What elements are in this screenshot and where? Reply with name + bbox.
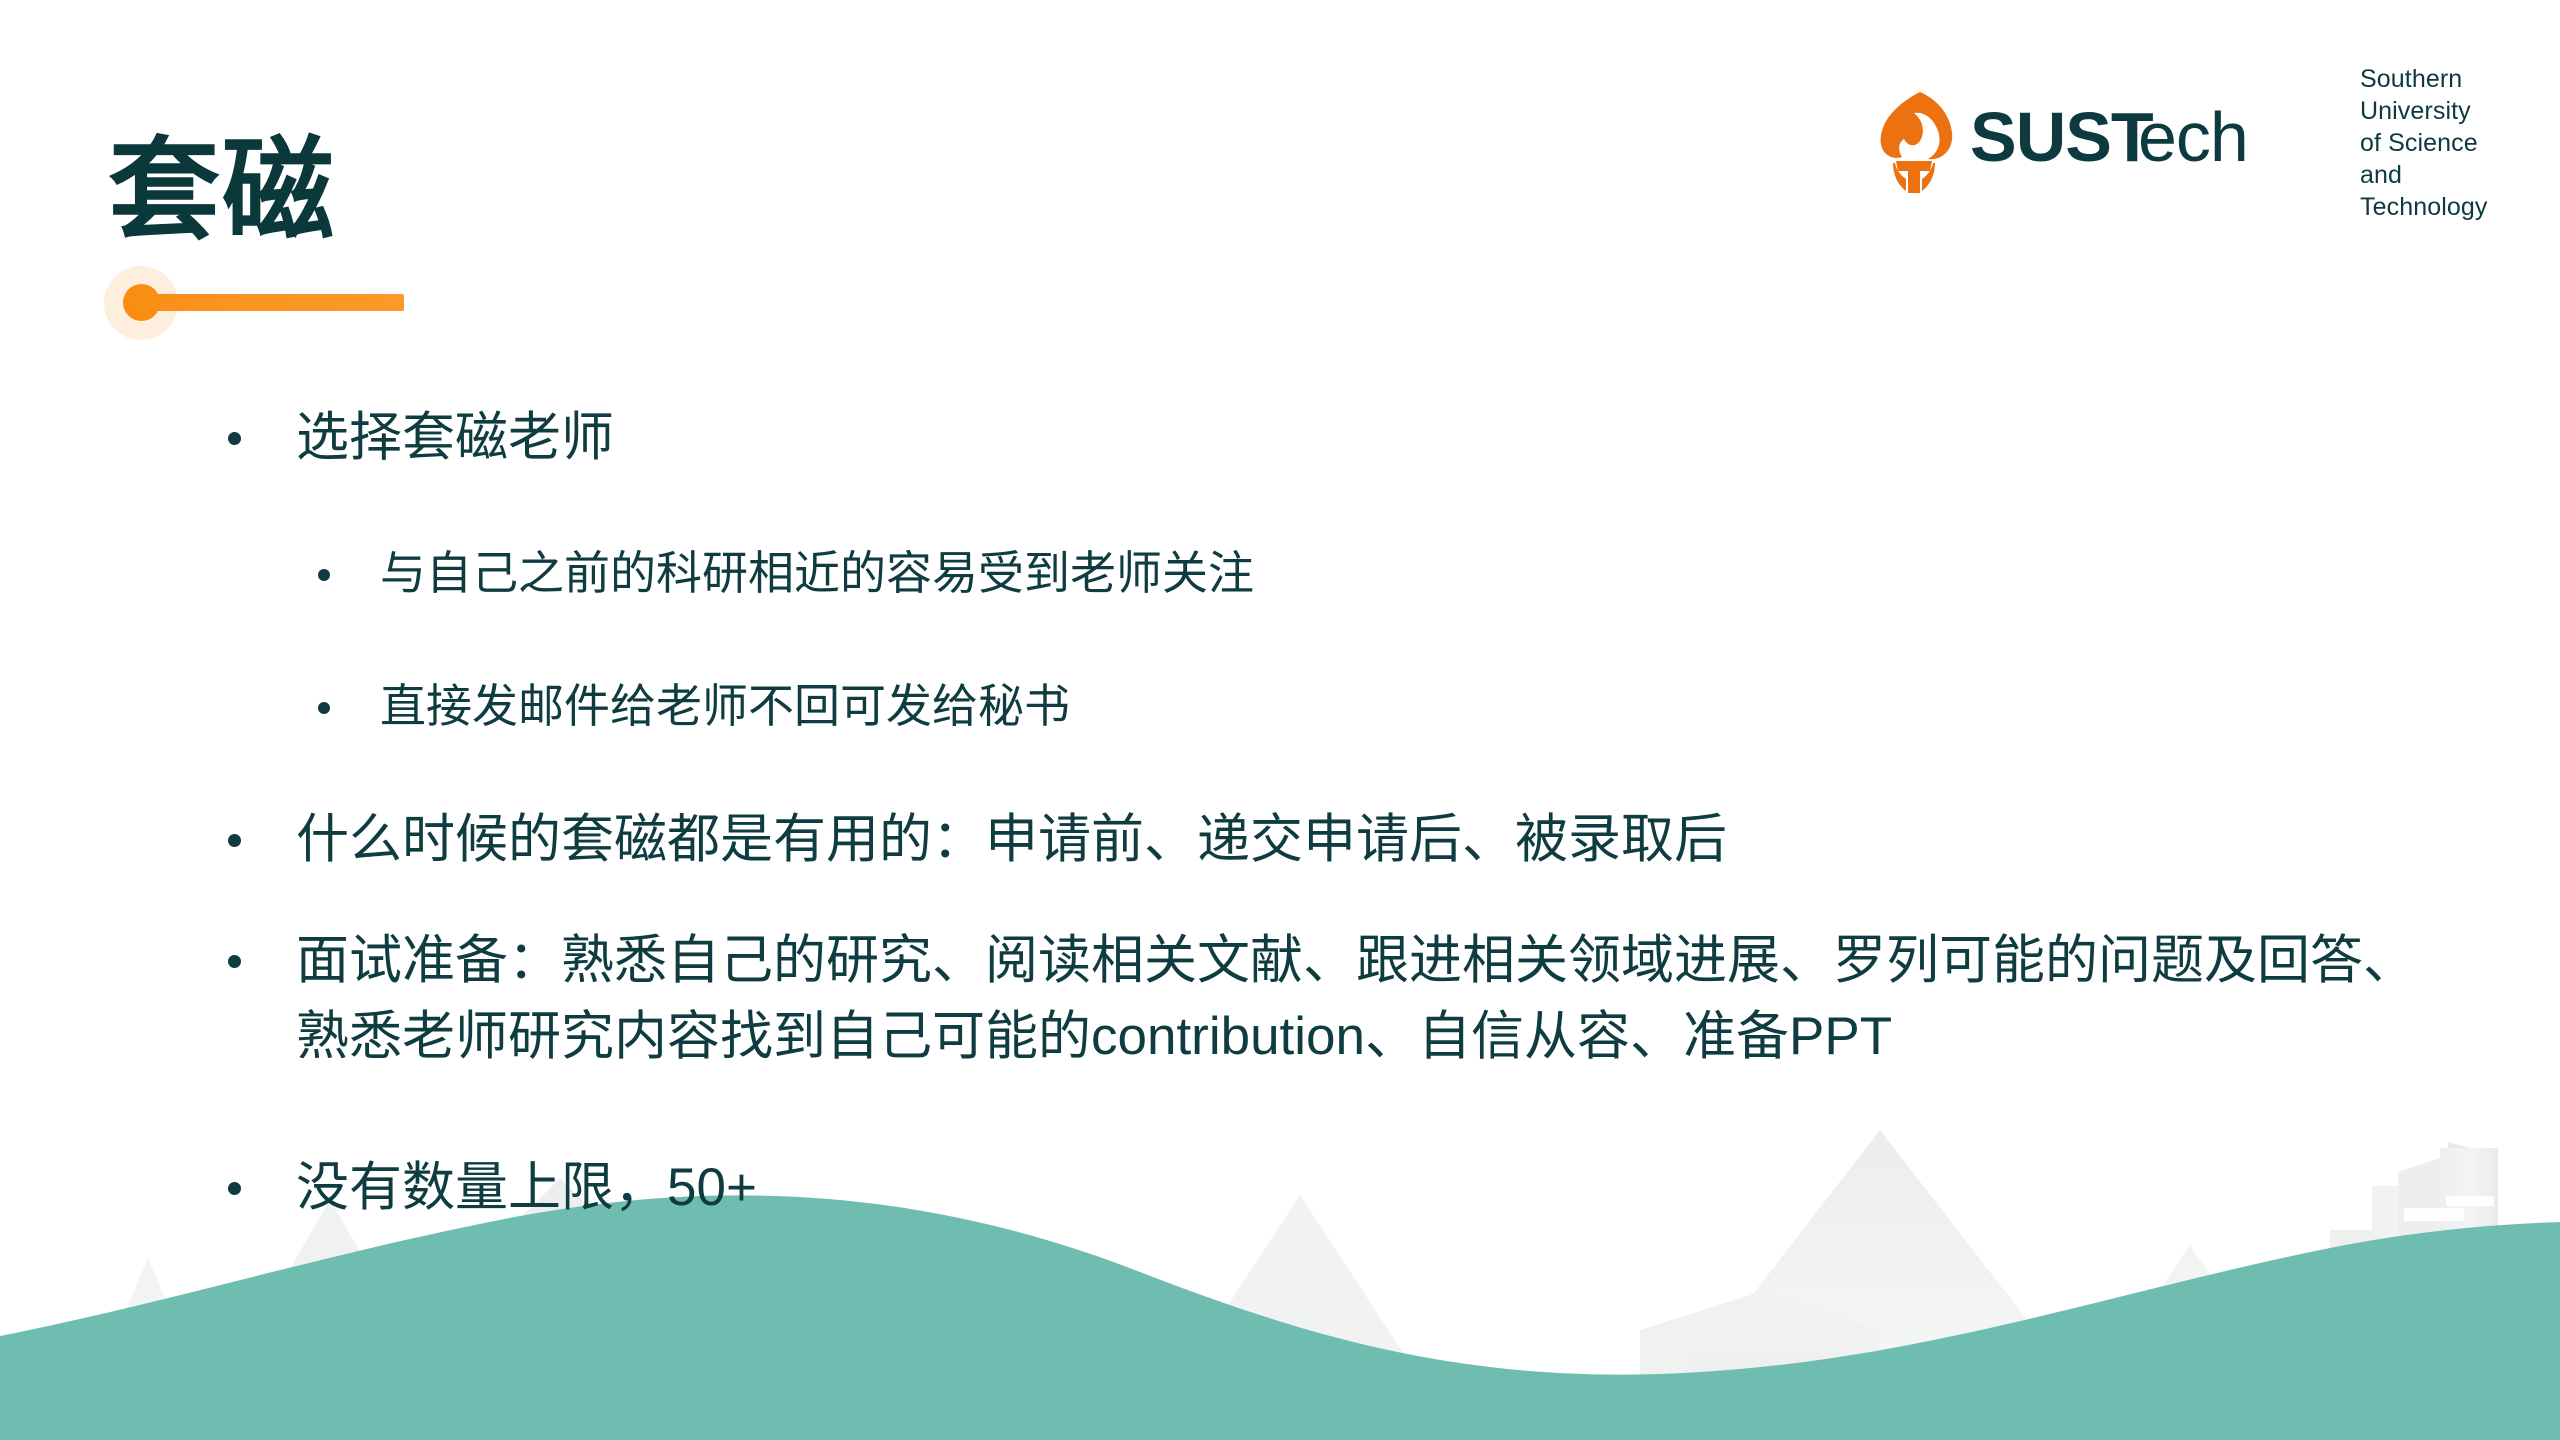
svg-text:ech: ech bbox=[2138, 101, 2248, 176]
list-item-text: 直接发邮件给老师不回可发给秘书 bbox=[380, 674, 2560, 738]
list-item-text: 没有数量上限，50+ bbox=[296, 1150, 2560, 1225]
list-item-text: 什么时候的套磁都是有用的：申请前、递交申请后、被录取后 bbox=[296, 802, 2560, 877]
sustech-wordmark: SUST ech bbox=[1970, 101, 2342, 186]
accent-bar-icon bbox=[136, 294, 404, 311]
spacer bbox=[0, 1120, 2560, 1150]
list-item: 面试准备：熟悉自己的研究、阅读相关文献、跟进相关领域进展、罗列可能的问题及回答、… bbox=[228, 923, 2560, 1074]
mountain-peak-small-left bbox=[70, 1258, 226, 1440]
spacer bbox=[0, 648, 2560, 674]
list-item: 没有数量上限，50+ bbox=[228, 1150, 2560, 1225]
svg-text:SUST: SUST bbox=[1970, 101, 2153, 176]
sustech-logo: SUST ech Southern University of Science … bbox=[1868, 88, 2498, 198]
list-item-text: 面试准备：熟悉自己的研究、阅读相关文献、跟进相关领域进展、罗列可能的问题及回答、… bbox=[296, 923, 2436, 1074]
logo-subtitle: Southern University of Science and Techn… bbox=[2360, 63, 2498, 223]
center-peak-window-dots bbox=[545, 1280, 587, 1373]
list-item-text: 选择套磁老师 bbox=[296, 400, 2560, 475]
title-accent-rule bbox=[104, 266, 404, 340]
list-item-text: 与自己之前的科研相近的容易受到老师关注 bbox=[380, 541, 2560, 605]
spacer bbox=[0, 521, 2560, 541]
spacer bbox=[0, 780, 2560, 802]
torch-icon bbox=[1868, 89, 1960, 197]
pavilion-silhouette bbox=[1640, 1292, 1880, 1440]
list-item: 选择套磁老师 bbox=[228, 400, 2560, 475]
page-title: 套磁 bbox=[108, 132, 336, 250]
list-item: 直接发邮件给老师不回可发给秘书 bbox=[318, 674, 2560, 738]
mountain-peak-small-far-right bbox=[2400, 1285, 2560, 1440]
list-item: 与自己之前的科研相近的容易受到老师关注 bbox=[318, 541, 2560, 605]
sustech-wordmark-svg: SUST ech bbox=[1970, 101, 2342, 181]
mountain-peak-small-center bbox=[720, 1278, 880, 1440]
list-item: 什么时候的套磁都是有用的：申请前、递交申请后、被录取后 bbox=[228, 802, 2560, 877]
bullet-list: 选择套磁老师 与自己之前的科研相近的容易受到老师关注 直接发邮件给老师不回可发给… bbox=[0, 400, 2560, 1271]
accent-dot-icon bbox=[123, 284, 160, 321]
mountain-peak-medium-far-right bbox=[2060, 1245, 2320, 1440]
slide-canvas: SUST ech Southern University of Science … bbox=[0, 0, 2560, 1440]
